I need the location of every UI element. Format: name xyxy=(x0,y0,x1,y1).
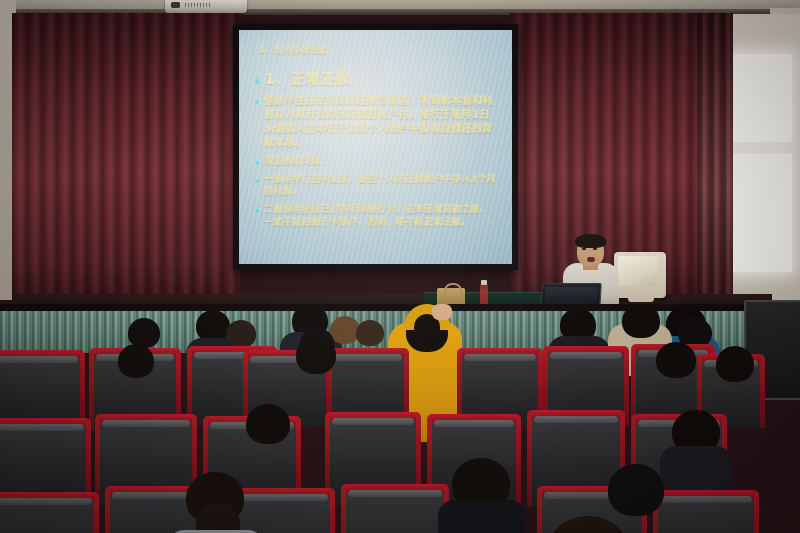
bullet-square-icon xyxy=(255,209,259,213)
audience-area xyxy=(0,300,800,533)
audience-ponytail xyxy=(196,504,240,533)
audience-head xyxy=(118,344,154,378)
seat xyxy=(0,496,96,533)
audience-head xyxy=(656,342,696,378)
slide-paragraph: 须注意的问题： xyxy=(264,156,330,169)
slide-paragraph: 一是同学们在毕业前，要在个人的还款帐户中存入3个月的利息。 xyxy=(264,174,498,199)
audience-head xyxy=(226,320,256,348)
stage-curtain-left xyxy=(12,13,240,305)
slide-heading: 1、正常还款 xyxy=(265,72,351,90)
bullet-square-icon xyxy=(255,100,259,104)
handbag-handle xyxy=(444,283,462,293)
audience-head xyxy=(356,320,384,346)
presenter-hair xyxy=(575,234,606,248)
slide-heading-row: 1、正常还款 xyxy=(255,72,498,90)
projection-screen: 5、如何办理还款 1、正常还款 借款学生应在约定的还款日期前，将贷款本金和利息存… xyxy=(239,30,512,264)
slide-paragraph-row: 一是同学们在毕业前，要在个人的还款帐户中存入3个月的利息。 xyxy=(255,174,498,199)
slide-title: 5、如何办理还款 xyxy=(259,44,498,56)
slide-paragraph-row: 须注意的问题： xyxy=(255,156,498,169)
lecture-hall-photo: 5、如何办理还款 1、正常还款 借款学生应在约定的还款日期前，将贷款本金和利息存… xyxy=(0,0,800,533)
presenter-eye xyxy=(593,248,597,250)
audience-torso xyxy=(438,500,526,533)
audience-hand xyxy=(432,304,452,320)
presenter-mouth xyxy=(587,257,595,262)
bullet-square-icon xyxy=(255,161,259,165)
ceiling-band xyxy=(0,0,800,9)
bullet-square-icon xyxy=(255,79,260,84)
slide-paragraph-row: 二是保存好自己的存折和银行卡，在未还清贷款之前，一定不能把银行卡销户，否则，将不… xyxy=(255,204,498,229)
audience-head xyxy=(716,346,754,382)
audience-head xyxy=(622,304,660,338)
crt-monitor-screen xyxy=(618,256,658,286)
window-pane-lower xyxy=(730,154,792,272)
slide-paragraph: 二是保存好自己的存折和银行卡，在未还清贷款之前，一定不能把银行卡销户，否则，将不… xyxy=(264,204,498,229)
presentation-slide: 5、如何办理还款 1、正常还款 借款学生应在约定的还款日期前，将贷款本金和利息存… xyxy=(239,30,512,264)
audience-torso xyxy=(660,446,732,496)
ceiling-projector xyxy=(165,0,247,13)
slide-paragraph-row: 借款学生应在约定的还款日期前，将贷款本金和利息存入原开设的活期储蓄帐户内，银行于… xyxy=(255,95,498,151)
seat xyxy=(656,494,756,533)
audience-head xyxy=(296,336,336,374)
bottle-cap xyxy=(481,280,487,285)
slide-paragraph: 借款学生应在约定的还款日期前，将贷款本金和利息存入原开设的活期储蓄帐户内，银行于… xyxy=(264,95,498,151)
bullet-square-icon xyxy=(255,179,259,183)
audience-head xyxy=(608,464,664,516)
projector-vent xyxy=(185,3,211,7)
stage-curtain-edge xyxy=(697,13,733,305)
presenter-eye xyxy=(582,248,586,250)
projector-lens xyxy=(171,2,180,8)
window-pane-upper xyxy=(730,54,792,142)
audience-head xyxy=(246,404,290,444)
seat xyxy=(344,488,446,533)
